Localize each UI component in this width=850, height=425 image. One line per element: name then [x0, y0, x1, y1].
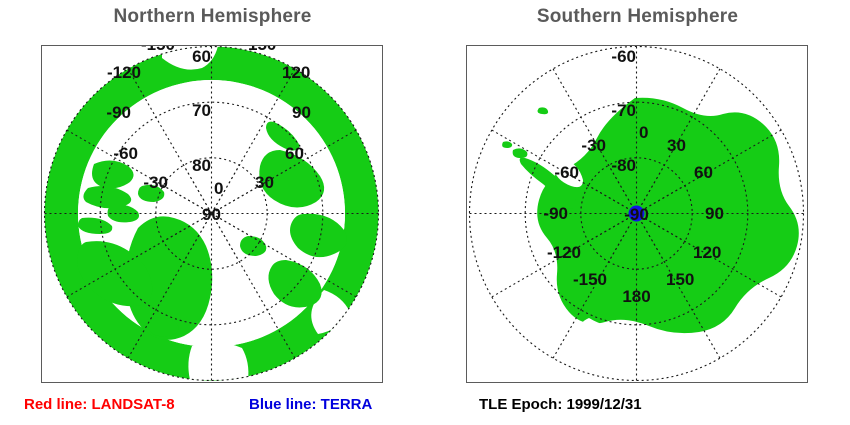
north-label-lat-70: 70	[192, 101, 211, 120]
north-label-lon-neg90: -90	[106, 103, 131, 122]
north-label-lon-neg120: -120	[107, 63, 141, 82]
south-label-lon-30: 30	[667, 136, 686, 155]
north-label-lon-30: 30	[255, 173, 274, 192]
north-label-lon-neg30: -30	[143, 173, 168, 192]
north-label-lon-150: 150	[248, 46, 276, 54]
southern-hemisphere-panel: Southern Hemisphere	[425, 0, 850, 425]
south-label-lon-90: 90	[705, 204, 724, 223]
north-label-lon-90: 90	[292, 103, 311, 122]
south-label-lon-120: 120	[693, 243, 721, 262]
north-label-lat-90: 90	[202, 205, 221, 224]
legend-red-line: Red line: LANDSAT-8	[24, 396, 175, 413]
legend-tle-epoch: TLE Epoch: 1999/12/31	[479, 396, 642, 413]
northern-hemisphere-title: Northern Hemisphere	[0, 6, 425, 28]
south-label-lat-neg80: -80	[611, 156, 636, 175]
north-label-lat-80: 80	[192, 156, 211, 175]
south-label-lon-60: 60	[694, 163, 713, 182]
south-label-lon-neg30: -30	[581, 136, 606, 155]
south-label-lon-neg60: -60	[554, 163, 579, 182]
south-ocean-ross-sea	[579, 318, 644, 356]
south-label-lon-neg120: -120	[547, 243, 581, 262]
southern-hemisphere-plot[interactable]: -90 -80 -70 -60 0 30 60 90 120 150 180 -…	[466, 45, 808, 383]
northern-hemisphere-plot[interactable]: 90 80 70 60 0 30 60 90 120 150 180 -150 …	[41, 45, 383, 383]
north-label-lon-neg60: -60	[113, 144, 138, 163]
south-label-lon-180: 180	[622, 287, 650, 306]
north-ocean-atlantic	[188, 342, 248, 380]
north-label-lon-0: 0	[214, 179, 223, 198]
south-land-antarctica	[537, 98, 799, 333]
south-label-lon-neg150: -150	[573, 270, 607, 289]
legend-blue-line: Blue line: TERRA	[249, 396, 372, 413]
legend-row: Red line: LANDSAT-8 Blue line: TERRA TLE…	[0, 396, 850, 420]
south-label-lon-0: 0	[639, 123, 648, 142]
south-label-lon-neg90: -90	[543, 204, 568, 223]
south-label-lat-neg70: -70	[611, 101, 636, 120]
south-landmass-group	[502, 98, 799, 356]
south-label-lat-neg60: -60	[611, 47, 636, 66]
north-label-lon-60: 60	[285, 144, 304, 163]
north-polar-svg: 90 80 70 60 0 30 60 90 120 150 180 -150 …	[42, 46, 381, 381]
south-polar-svg: -90 -80 -70 -60 0 30 60 90 120 150 180 -…	[467, 46, 806, 381]
northern-hemisphere-panel: Northern Hemisphere	[0, 0, 425, 425]
north-label-lat-60: 60	[192, 47, 211, 66]
north-label-lon-120: 120	[282, 63, 310, 82]
southern-hemisphere-title: Southern Hemisphere	[425, 6, 850, 28]
south-label-lon-150: 150	[666, 270, 694, 289]
south-land-small-island	[538, 107, 549, 114]
south-label-lat-neg90: -90	[624, 205, 649, 224]
north-label-lon-neg150: -150	[141, 46, 175, 54]
